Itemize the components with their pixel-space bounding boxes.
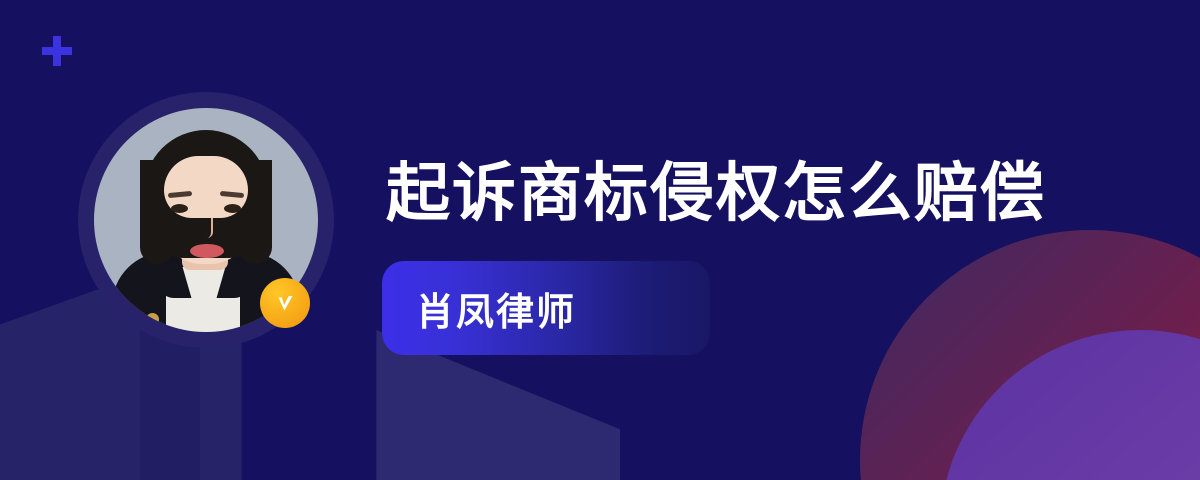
verified-check-icon	[260, 278, 310, 328]
portrait-lapel-pin	[146, 313, 159, 326]
background-circle-inner	[940, 330, 1200, 480]
lawyer-name-label: 肖凤律师	[416, 281, 576, 336]
portrait-mouth	[190, 244, 224, 258]
portrait-eye-left	[171, 204, 188, 213]
portrait-nose	[202, 218, 213, 238]
portrait-hair-top	[144, 130, 268, 258]
lawyer-topic-banner: 起诉商标侵权怎么赔偿 肖凤律师	[0, 0, 1200, 480]
page-title: 起诉商标侵权怎么赔偿	[386, 160, 1046, 227]
avatar[interactable]	[78, 92, 334, 348]
portrait-eye-right	[224, 204, 241, 213]
background-circle-outer	[860, 230, 1200, 480]
plus-icon	[42, 36, 72, 66]
lawyer-name-badge[interactable]: 肖凤律师	[382, 261, 710, 355]
